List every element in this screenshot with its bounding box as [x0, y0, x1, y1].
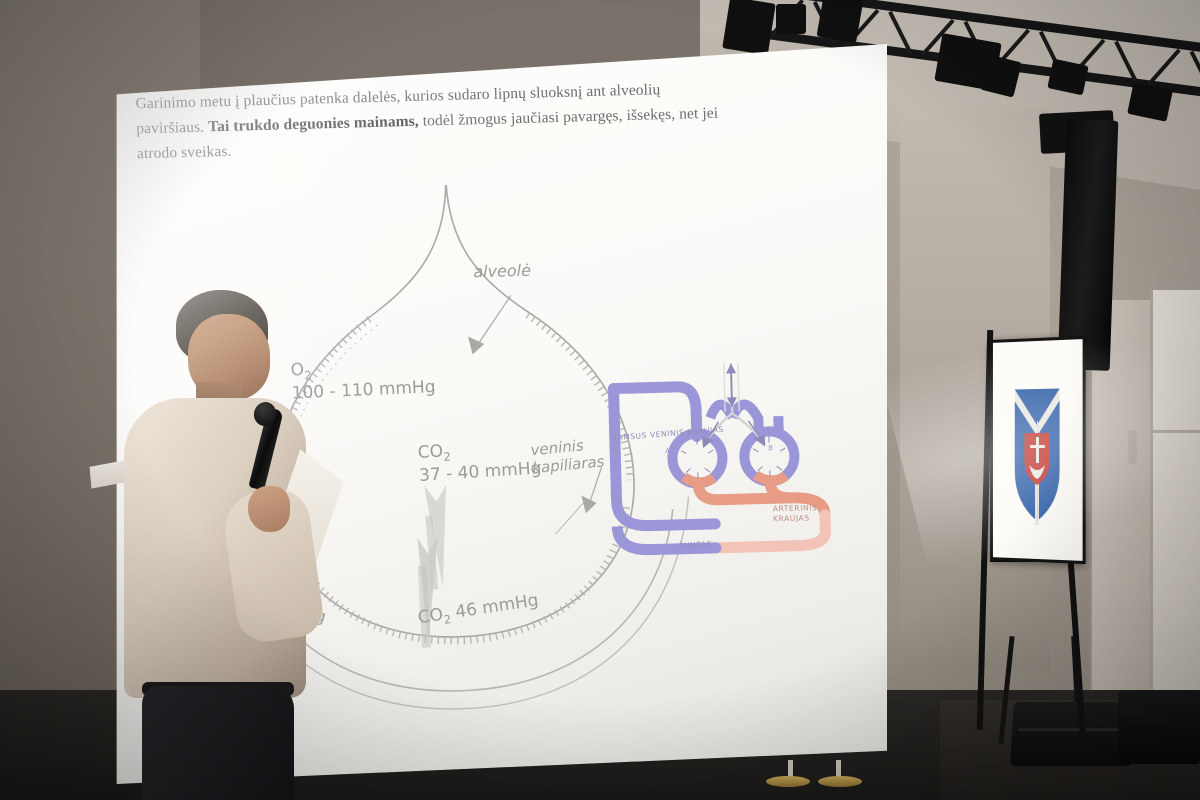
door-handle-icon[interactable] [1128, 430, 1137, 464]
truss-brace [1147, 49, 1180, 86]
line-array-speaker [1058, 119, 1119, 371]
label-co2-venous-symbol: CO [416, 605, 444, 629]
slide-body-text: Garinimo metu į plaučius patenka dalelės… [135, 75, 727, 166]
pulmonary-shunt-diagram [591, 354, 856, 561]
screen-foot [818, 776, 862, 787]
screen-foot [766, 776, 810, 787]
stage-monitor-left [1010, 702, 1132, 766]
label-co2-symbol: CO [417, 441, 443, 463]
presenter-hand [248, 486, 290, 532]
framed-coat-of-arms-poster[interactable] [990, 336, 1086, 564]
window [1150, 290, 1200, 730]
window-mullion [1150, 430, 1200, 433]
label-co2-subscript: 2 [443, 449, 451, 463]
presenter-trousers [142, 686, 294, 800]
label-arterial-blood: ARTERINIS KRAUJAS [773, 503, 818, 524]
label-arterial-line2: KRAUJAS [773, 513, 810, 523]
speaker-grille [1018, 728, 1124, 731]
label-marker-a: A [665, 447, 670, 455]
label-co2-venous-subscript: 2 [443, 612, 452, 627]
presenter-ear [206, 352, 223, 374]
stage-monitor-right [1118, 690, 1200, 764]
label-alveolus: alveolė [473, 261, 531, 282]
presenter [118, 290, 333, 800]
label-co2-alveolar: CO2 37 - 40 mmHg [417, 435, 542, 487]
label-marker-b: B [768, 444, 773, 452]
slide-text-bold: Tai trukdo deguonies mainams, [208, 113, 423, 136]
screenshot-root: Garinimo metu į plaučius patenka dalelės… [0, 0, 1200, 800]
label-arterial-line1: ARTERINIS [773, 503, 818, 513]
coat-of-arms-icon [1009, 374, 1066, 526]
